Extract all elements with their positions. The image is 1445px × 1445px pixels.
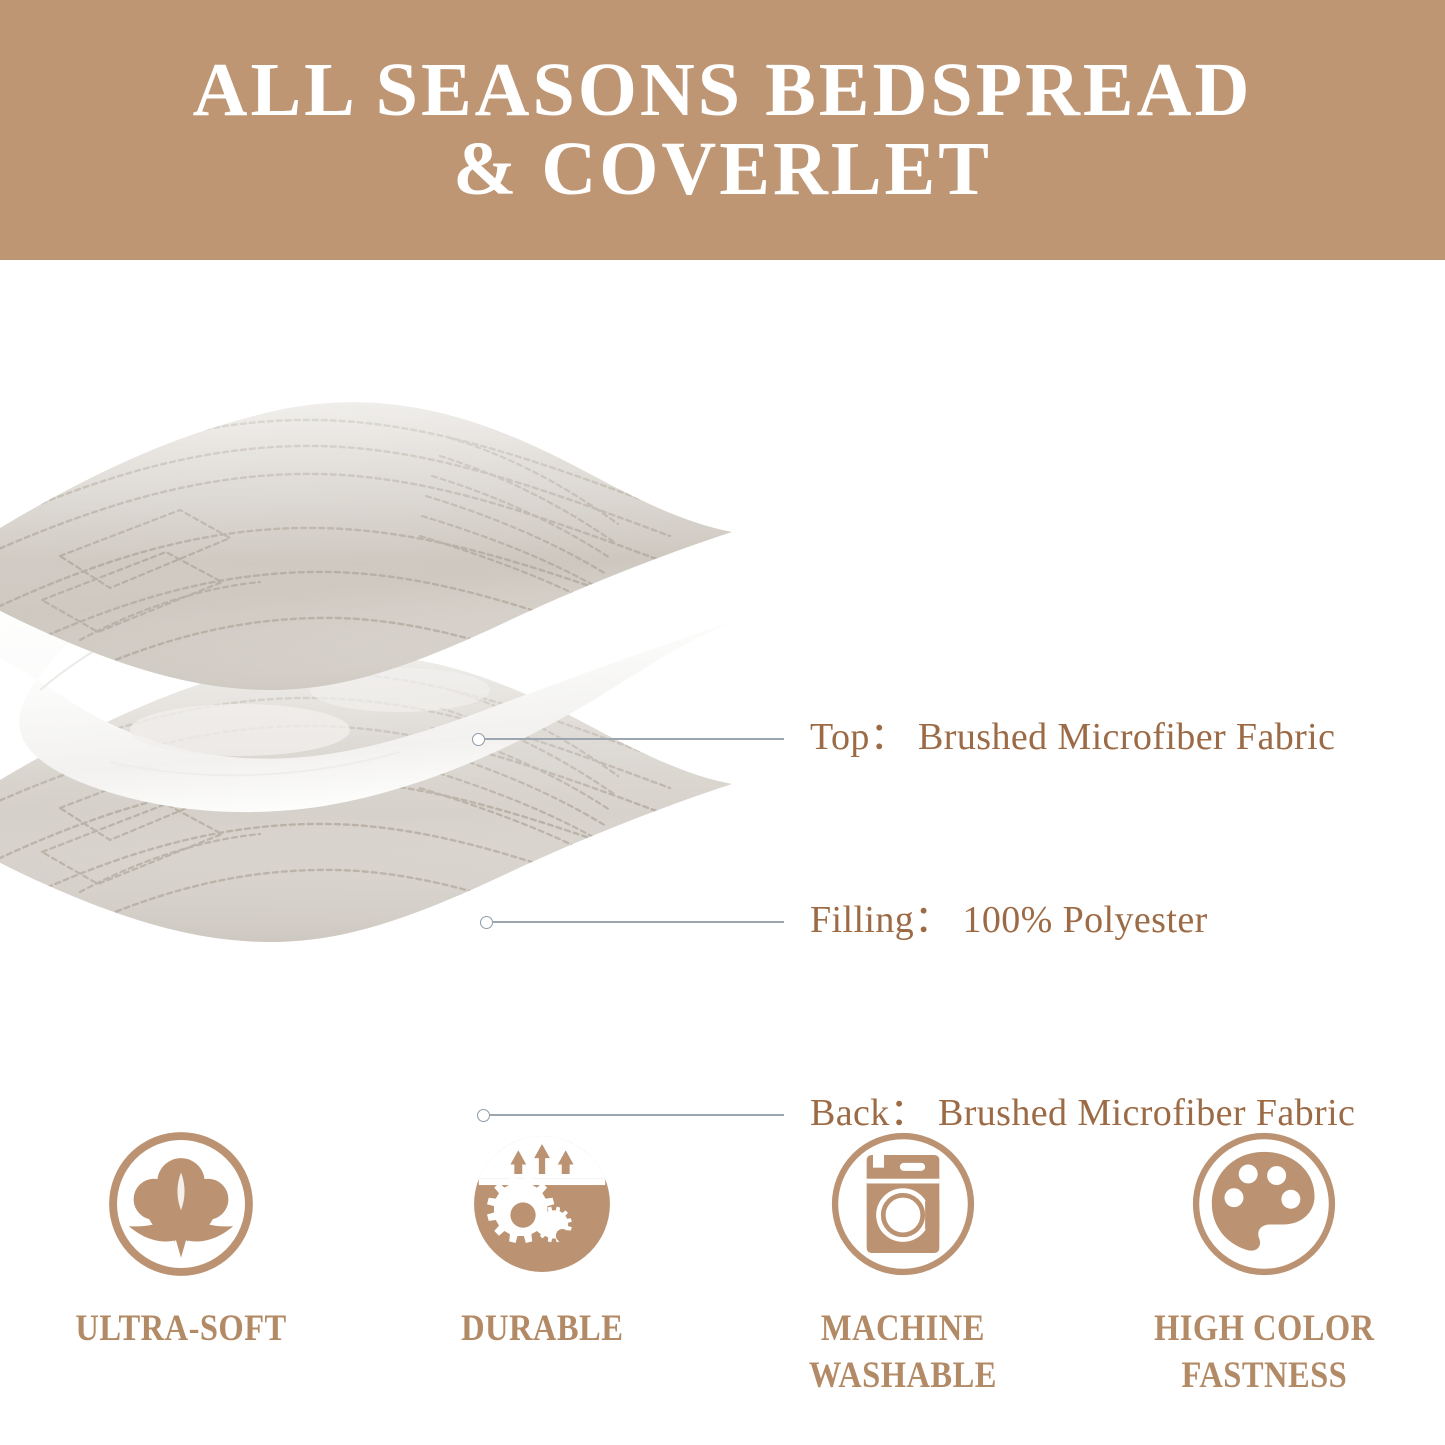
leader-line-top-layer	[472, 732, 784, 746]
feature-machine-washable: MACHINE WASHABLE	[723, 1125, 1084, 1445]
page-title: ALL SEASONS BEDSPREAD & COVERLET	[93, 51, 1353, 209]
feature-high-color-fastness: HIGH COLOR FASTNESS	[1084, 1125, 1445, 1445]
feature-machine-washable-label: MACHINE WASHABLE	[809, 1305, 997, 1400]
feature-label-line-2: FASTNESS	[1181, 1355, 1347, 1396]
feature-durable-label: DURABLE	[461, 1305, 623, 1352]
leader-dot-icon	[480, 916, 493, 929]
paint-palette-icon	[1185, 1125, 1343, 1283]
header-banner: ALL SEASONS BEDSPREAD & COVERLET	[0, 0, 1445, 260]
page-title-line-2: & COVERLET	[93, 130, 1353, 209]
washing-machine-icon	[824, 1125, 982, 1283]
fabric-layers-illustration	[0, 390, 770, 990]
feature-label-line-1: MACHINE	[821, 1308, 985, 1349]
leader-line-back-layer	[477, 1108, 784, 1122]
feature-label-line-1: DURABLE	[461, 1308, 623, 1349]
page-title-line-1: ALL SEASONS BEDSPREAD	[93, 51, 1353, 130]
gears-durability-icon	[463, 1125, 621, 1283]
leader-dot-icon	[472, 733, 485, 746]
feature-durable: DURABLE	[361, 1125, 722, 1445]
leader-rule	[490, 1114, 784, 1116]
feature-label-line-1: ULTRA-SOFT	[75, 1308, 286, 1349]
leader-dot-icon	[477, 1109, 490, 1122]
feature-ultra-soft: ULTRA-SOFT	[0, 1125, 361, 1445]
callout-top-layer: Top： Brushed Microfiber Fabric	[810, 718, 1335, 756]
feature-label-line-1: HIGH COLOR	[1154, 1308, 1375, 1349]
leader-line-filling-layer	[480, 915, 784, 929]
feature-label-line-2: WASHABLE	[809, 1355, 997, 1396]
feature-highlights-row: ULTRA-SOFT DURABLE	[0, 1125, 1445, 1445]
feature-ultra-soft-label: ULTRA-SOFT	[75, 1305, 286, 1352]
top-quilted-fabric-layer	[0, 402, 732, 690]
callout-filling-layer-text: Filling： 100% Polyester	[810, 899, 1208, 941]
fabric-layer-diagram: Top： Brushed Microfiber Fabric Filling： …	[0, 260, 1445, 1120]
leader-rule	[485, 738, 784, 740]
feature-high-color-fastness-label: HIGH COLOR FASTNESS	[1154, 1305, 1375, 1400]
cotton-flower-icon	[102, 1125, 260, 1283]
leader-rule	[493, 921, 784, 923]
callout-filling-layer: Filling： 100% Polyester	[810, 901, 1208, 939]
callout-top-layer-text: Top： Brushed Microfiber Fabric	[810, 716, 1335, 758]
